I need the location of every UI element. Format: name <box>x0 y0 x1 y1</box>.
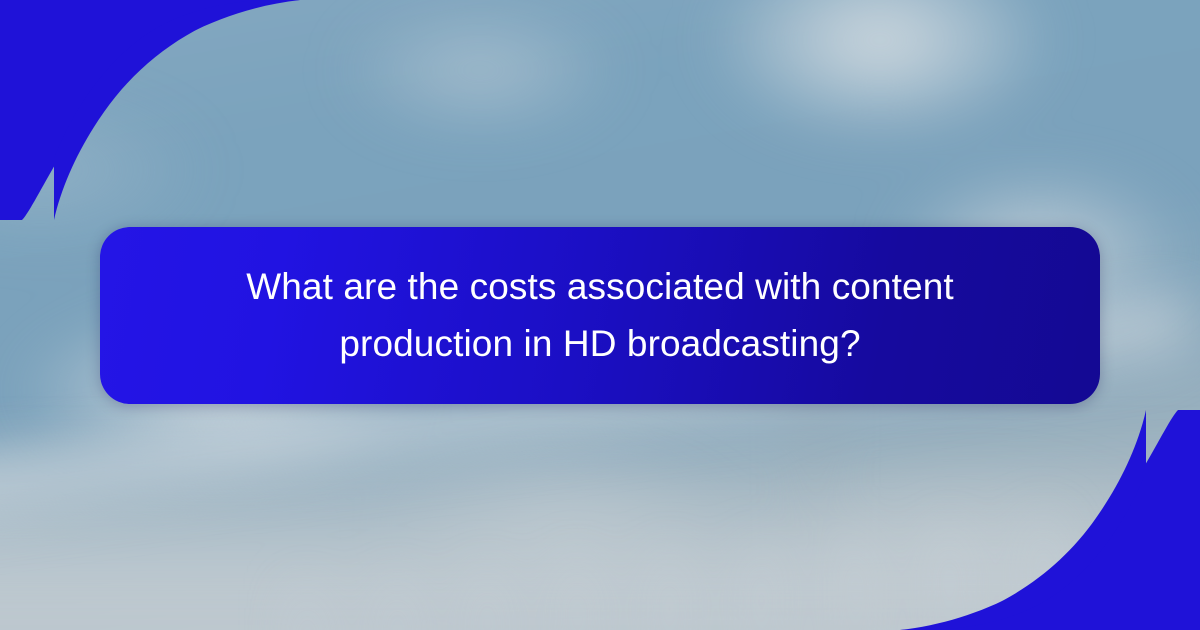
question-text: What are the costs associated with conte… <box>196 259 1004 371</box>
question-card: What are the costs associated with conte… <box>100 227 1100 404</box>
social-card-canvas: What are the costs associated with conte… <box>0 0 1200 630</box>
